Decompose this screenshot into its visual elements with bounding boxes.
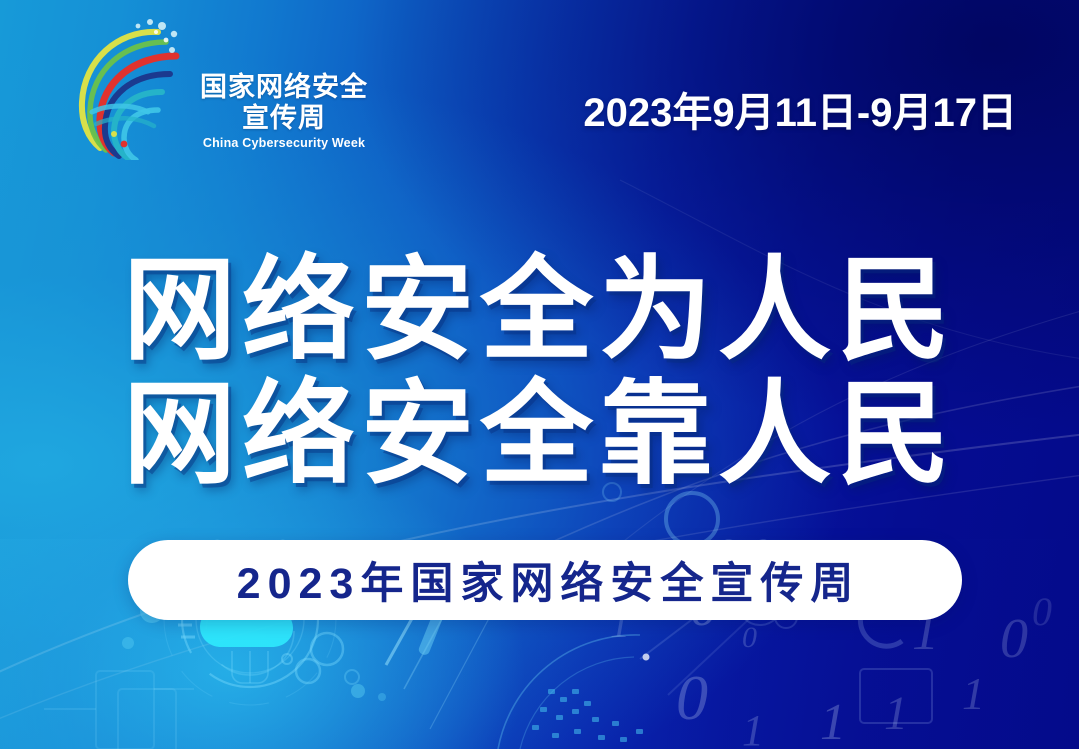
logo-text-block: 国家网络安全 宣传周 China Cybersecurity Week [184, 72, 384, 150]
circuit-lines [44, 671, 194, 749]
china-cybersecurity-week-logo: 国家网络安全 宣传周 China Cybersecurity Week [62, 14, 332, 164]
cybersecurity-week-emblem-icon [62, 16, 180, 160]
globe-dots [532, 689, 643, 742]
svg-text:1: 1 [820, 694, 846, 749]
logo-subtitle-english: China Cybersecurity Week [184, 136, 384, 150]
event-name-pill: 2023年国家网络安全宣传周 [128, 540, 962, 620]
svg-text:0: 0 [676, 662, 708, 733]
svg-text:1: 1 [962, 668, 985, 719]
globe-grid [498, 635, 640, 749]
event-date-range: 2023年9月11日-9月17日 [583, 80, 1017, 138]
svg-text:0: 0 [742, 621, 757, 654]
logo-title-line1: 国家网络安全 [184, 72, 384, 103]
svg-text:0: 0 [1000, 608, 1028, 670]
svg-text:1: 1 [742, 706, 764, 749]
event-name-text: 2023年国家网络安全宣传周 [230, 549, 861, 611]
headline-block: 网络安全为人民 网络安全靠人民 [0, 248, 1079, 496]
svg-text:0: 0 [1032, 589, 1052, 634]
headline-line-2: 网络安全靠人民 [0, 372, 1079, 496]
poster-canvas: 0 0 0 1 1 1 0 1 1 1 1 0 [0, 0, 1079, 749]
logo-title-line2: 宣传周 [184, 103, 384, 134]
headline-line-1: 网络安全为人民 [0, 248, 1079, 372]
svg-text:1: 1 [884, 687, 908, 740]
circle-cluster [282, 633, 359, 684]
